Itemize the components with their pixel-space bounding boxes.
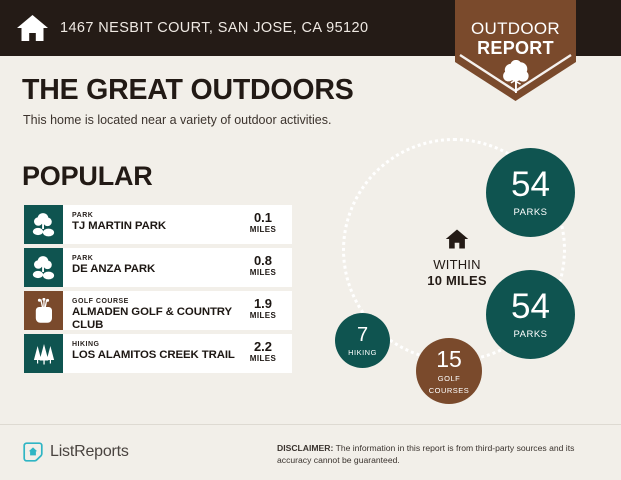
bubble-hiking: 7 HIKING (335, 313, 390, 368)
distance-unit: MILES (241, 225, 285, 235)
center-line-1: WITHIN (402, 257, 512, 273)
bubble-parks-1: 54 PARKS (486, 148, 575, 237)
bubble-label: HIKING (348, 349, 377, 357)
list-item-distance: 0.8 MILES (241, 254, 285, 278)
center-line-2: 10 MILES (402, 273, 512, 289)
bubble-label: PARKS (513, 330, 547, 340)
listreports-wordmark: ListReports (50, 443, 129, 461)
popular-list: PARK TJ MARTIN PARK 0.1 MILES (24, 205, 292, 377)
list-item-name: ALMADEN GOLF & COUNTRY CLUB (72, 306, 242, 330)
list-item-category: PARK (72, 211, 242, 220)
house-icon (16, 13, 49, 43)
bubble-label-line-1: GOLF (438, 374, 460, 383)
diagram-center-label: WITHIN 10 MILES (402, 228, 512, 289)
list-item-distance: 0.1 MILES (241, 211, 285, 235)
distance-value: 0.8 (241, 254, 285, 268)
outdoor-report-badge: OUTDOOR REPORT (455, 0, 576, 101)
distance-unit: MILES (241, 354, 285, 364)
bubble-label-line-2: COURSES (429, 386, 470, 395)
bubble-label: PARKS (513, 208, 547, 218)
outdoor-report-page: 1467 NESBIT COURT, SAN JOSE, CA 95120 OU… (0, 0, 621, 480)
distance-value: 0.1 (241, 211, 285, 225)
bubble-golf-courses: 15 GOLF COURSES (416, 338, 482, 404)
list-item-category: GOLF COURSE (72, 297, 242, 306)
list-item[interactable]: PARK TJ MARTIN PARK 0.1 MILES (24, 205, 292, 244)
park-tree-icon (24, 205, 63, 244)
list-item[interactable]: GOLF COURSE ALMADEN GOLF & COUNTRY CLUB … (24, 291, 292, 330)
listreports-pin-icon (22, 441, 44, 463)
park-tree-icon (24, 248, 63, 287)
list-item-text: HIKING LOS ALAMITOS CREEK TRAIL (72, 340, 242, 362)
golf-bag-icon (24, 291, 63, 330)
badge-line-1: OUTDOOR (455, 20, 576, 37)
list-item-name: DE ANZA PARK (72, 263, 242, 276)
distance-unit: MILES (241, 311, 285, 321)
page-subtitle: This home is located near a variety of o… (23, 113, 331, 127)
house-icon (445, 237, 469, 254)
tree-icon (502, 60, 530, 94)
list-item-name: LOS ALAMITOS CREEK TRAIL (72, 349, 242, 362)
list-item-distance: 1.9 MILES (241, 297, 285, 321)
list-item-distance: 2.2 MILES (241, 340, 285, 364)
distance-value: 2.2 (241, 340, 285, 354)
bubble-value: 15 (436, 348, 462, 371)
disclaimer-label: DISCLAIMER: (277, 443, 333, 453)
distance-value: 1.9 (241, 297, 285, 311)
list-item-category: HIKING (72, 340, 242, 349)
bubble-value: 54 (511, 167, 550, 202)
pine-trees-icon (24, 334, 63, 373)
bubble-value: 54 (511, 289, 550, 324)
list-item-text: PARK DE ANZA PARK (72, 254, 242, 276)
bubble-value: 7 (357, 325, 368, 345)
list-item-text: GOLF COURSE ALMADEN GOLF & COUNTRY CLUB (72, 297, 242, 330)
section-heading-popular: POPULAR (22, 161, 153, 192)
list-item[interactable]: PARK DE ANZA PARK 0.8 MILES (24, 248, 292, 287)
disclaimer: DISCLAIMER: The information in this repo… (277, 443, 607, 466)
header-address: 1467 NESBIT COURT, SAN JOSE, CA 95120 (60, 20, 368, 36)
listreports-logo[interactable]: ListReports (22, 441, 129, 463)
amenities-bubble-chart: 54 PARKS 54 PARKS 15 GOLF COURSES 7 HIKI… (320, 120, 610, 420)
footer-divider (0, 424, 621, 425)
badge-line-2: REPORT (455, 39, 576, 57)
list-item-text: PARK TJ MARTIN PARK (72, 211, 242, 233)
list-item-category: PARK (72, 254, 242, 263)
page-title: THE GREAT OUTDOORS (22, 74, 354, 107)
list-item[interactable]: HIKING LOS ALAMITOS CREEK TRAIL 2.2 MILE… (24, 334, 292, 373)
list-item-name: TJ MARTIN PARK (72, 220, 242, 233)
distance-unit: MILES (241, 268, 285, 278)
